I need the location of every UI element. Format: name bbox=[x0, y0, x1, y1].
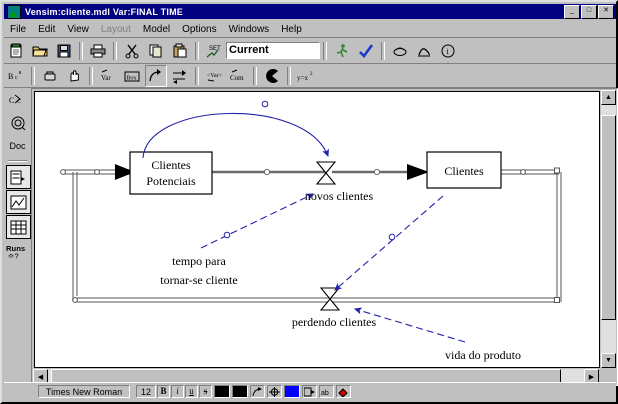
svg-text:<Var>: <Var> bbox=[207, 73, 223, 79]
sidebar-divider bbox=[8, 160, 27, 162]
bold-button[interactable]: B bbox=[157, 385, 170, 398]
sketch-separator-1 bbox=[31, 67, 35, 85]
toolbar-separator-3 bbox=[195, 42, 199, 60]
flow-label-perdendo-clientes: perdendo clientes bbox=[292, 315, 377, 329]
stock-clientes-label: Clientes bbox=[444, 164, 484, 178]
link-handle-clientes-perdendo[interactable] bbox=[389, 234, 395, 240]
menu-model[interactable]: Model bbox=[137, 23, 176, 36]
link-clientes-to-perdendo[interactable] bbox=[335, 196, 443, 290]
stock-clientes[interactable]: Clientes bbox=[427, 152, 501, 188]
svg-text:ab: ab bbox=[321, 390, 329, 397]
link-handle-tempo-novos[interactable] bbox=[224, 232, 230, 238]
paste-icon[interactable] bbox=[169, 40, 191, 62]
text-position-icon[interactable]: ab bbox=[319, 385, 334, 398]
causes-strip-icon[interactable] bbox=[6, 165, 31, 189]
align-right-icon[interactable] bbox=[302, 385, 317, 398]
document-icon[interactable]: Doc bbox=[6, 135, 29, 157]
link-handle-potenciais-novos[interactable] bbox=[262, 101, 268, 107]
window-controls: _ □ ✕ bbox=[564, 5, 616, 19]
hand-pan-icon[interactable] bbox=[63, 65, 85, 87]
link-potenciais-to-novos[interactable] bbox=[143, 113, 328, 158]
stock-label-line1: Clientes bbox=[151, 158, 191, 172]
flow-pipe-inflow-source bbox=[61, 164, 135, 180]
scroll-up-button[interactable]: ▲ bbox=[601, 90, 616, 105]
vertical-scroll-thumb[interactable] bbox=[601, 115, 616, 320]
maximize-button[interactable]: □ bbox=[581, 5, 597, 19]
simulate-icon[interactable] bbox=[331, 40, 353, 62]
minimize-button[interactable]: _ bbox=[564, 5, 580, 19]
accent-color-swatch[interactable] bbox=[284, 385, 300, 398]
sketch-separator-4 bbox=[253, 67, 257, 85]
flow-pipe-novos-clientes bbox=[211, 169, 325, 174]
sketch-separator-3 bbox=[195, 67, 199, 85]
svg-text:y=x: y=x bbox=[297, 74, 308, 82]
info-icon[interactable]: i bbox=[437, 40, 459, 62]
arrow-shape-icon[interactable] bbox=[250, 385, 265, 398]
move-size-icon[interactable] bbox=[39, 65, 61, 87]
loops-icon[interactable] bbox=[6, 112, 29, 134]
menu-options[interactable]: Options bbox=[176, 23, 222, 36]
svg-text:B: B bbox=[8, 72, 13, 81]
check-model-icon[interactable] bbox=[355, 40, 377, 62]
arrow-icon[interactable] bbox=[145, 65, 167, 87]
aux-label-tempo-line1: tempo para bbox=[172, 254, 226, 268]
new-model-icon[interactable] bbox=[5, 40, 27, 62]
vensim-application-window: Vensim:cliente.mdl Var:FINAL TIME _ □ ✕ … bbox=[0, 0, 618, 404]
stock-flow-diagram: Clientes Potenciais Clientes bbox=[35, 92, 599, 367]
print-icon[interactable] bbox=[87, 40, 109, 62]
window-title: Vensim:cliente.mdl Var:FINAL TIME bbox=[25, 7, 183, 17]
cut-icon[interactable] bbox=[121, 40, 143, 62]
toolbar-separator-4 bbox=[323, 42, 327, 60]
menu-file[interactable]: File bbox=[4, 23, 32, 36]
table-icon[interactable] bbox=[6, 215, 31, 239]
fill-color-swatch[interactable] bbox=[232, 385, 248, 398]
format-status-bar: Times New Roman 12 B i u s ab bbox=[4, 382, 616, 400]
synthesim-icon[interactable] bbox=[389, 40, 411, 62]
valve-perdendo-clientes[interactable] bbox=[321, 288, 339, 310]
svg-text:Box: Box bbox=[127, 75, 137, 81]
line-style-icon[interactable] bbox=[267, 385, 282, 398]
flow-pipe-to-clientes bbox=[332, 164, 429, 180]
italic-button[interactable]: i bbox=[171, 385, 184, 398]
open-model-icon[interactable] bbox=[29, 40, 51, 62]
title-bar: Vensim:cliente.mdl Var:FINAL TIME _ □ ✕ bbox=[4, 4, 616, 19]
sketch-toolbar: Bc Var Box <Var> Com bbox=[4, 64, 616, 88]
menu-windows[interactable]: Windows bbox=[223, 23, 276, 36]
font-name-field[interactable]: Times New Roman bbox=[38, 385, 130, 398]
text-color-swatch[interactable] bbox=[214, 385, 230, 398]
reality-check-icon[interactable] bbox=[413, 40, 435, 62]
menu-bar: File Edit View Layout Model Options Wind… bbox=[4, 21, 616, 38]
copy-icon[interactable] bbox=[145, 40, 167, 62]
sketch-separator-5 bbox=[287, 67, 291, 85]
menu-view[interactable]: View bbox=[61, 23, 95, 36]
flow-pipe-recycle-left bbox=[73, 172, 77, 300]
aux-label-vida-do-produto: vida do produto bbox=[445, 348, 521, 362]
vensim-icon bbox=[7, 5, 21, 19]
menu-help[interactable]: Help bbox=[275, 23, 308, 36]
sketch-canvas[interactable]: Clientes Potenciais Clientes bbox=[34, 91, 600, 368]
stock-label-line2: Potenciais bbox=[146, 174, 196, 188]
save-model-icon[interactable] bbox=[53, 40, 75, 62]
svg-text:≏?: ≏? bbox=[8, 252, 19, 261]
toolbar-separator-1 bbox=[79, 42, 83, 60]
sketch-separator-2 bbox=[89, 67, 93, 85]
variable-icon[interactable]: Var bbox=[97, 65, 119, 87]
paint-color-icon[interactable] bbox=[336, 385, 351, 398]
flow-pipe-perdendo-clientes bbox=[73, 298, 560, 303]
scroll-down-button[interactable]: ▼ bbox=[601, 353, 616, 368]
causes-tree-icon[interactable]: CC bbox=[6, 89, 29, 111]
toolbar-separator-5 bbox=[381, 42, 385, 60]
box-variable-icon[interactable]: Box bbox=[121, 65, 143, 87]
shadow-variable-icon[interactable]: <Var> bbox=[203, 65, 225, 87]
svg-text:SET: SET bbox=[209, 46, 221, 52]
svg-text:i: i bbox=[447, 47, 450, 56]
svg-text:2: 2 bbox=[310, 72, 313, 77]
vertical-scrollbar[interactable]: ▲ ▼ bbox=[601, 90, 616, 368]
analysis-tool-strip: CC Doc Runs≏? bbox=[4, 88, 31, 384]
underline-button[interactable]: u bbox=[185, 385, 198, 398]
current-run-field[interactable]: Current bbox=[226, 42, 320, 59]
main-toolbar: SET Current i bbox=[4, 38, 616, 64]
aux-label-tempo-line2: tornar-se cliente bbox=[160, 273, 237, 287]
model-document-window: Clientes Potenciais Clientes bbox=[31, 88, 618, 386]
runs-compare-icon[interactable]: Runs≏? bbox=[6, 240, 29, 262]
delete-icon[interactable] bbox=[261, 65, 283, 87]
rate-flow-icon[interactable] bbox=[169, 65, 191, 87]
svg-text:c: c bbox=[15, 75, 18, 81]
comment-icon[interactable]: Com bbox=[227, 65, 249, 87]
toolbar-separator-2 bbox=[113, 42, 117, 60]
link-tempo-to-novos[interactable] bbox=[201, 194, 313, 248]
equation-icon[interactable]: y=x2 bbox=[295, 65, 317, 87]
font-size-field[interactable]: 12 bbox=[136, 385, 156, 398]
flow-label-novos-clientes: novos clientes bbox=[305, 189, 374, 203]
set-run-name-icon[interactable]: SET bbox=[203, 40, 225, 62]
graph-icon[interactable] bbox=[6, 190, 31, 214]
svg-text:Com: Com bbox=[230, 74, 244, 82]
stock-clientes-potenciais[interactable]: Clientes Potenciais bbox=[130, 152, 212, 194]
svg-text:C: C bbox=[9, 96, 14, 105]
lock-icon[interactable]: Bc bbox=[5, 65, 27, 87]
close-button[interactable]: ✕ bbox=[598, 5, 614, 19]
menu-layout: Layout bbox=[95, 23, 137, 36]
strikeout-button[interactable]: s bbox=[199, 385, 212, 398]
menu-edit[interactable]: Edit bbox=[32, 23, 61, 36]
svg-text:Var: Var bbox=[101, 74, 111, 82]
